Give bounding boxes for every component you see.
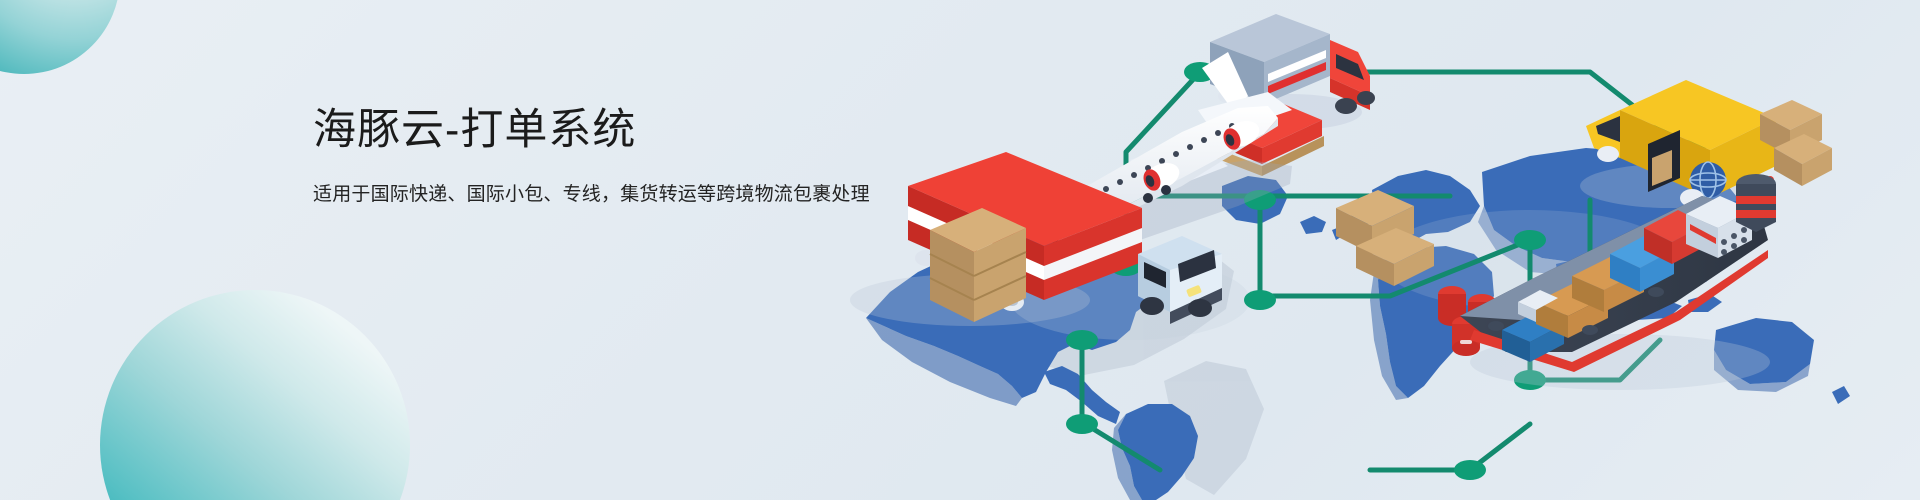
network-node	[1066, 414, 1098, 434]
landmass-iceland	[1300, 216, 1326, 234]
network-node	[1244, 290, 1276, 310]
isometric-logistics-illustration	[830, 0, 1920, 500]
airplane-wheel	[1143, 193, 1153, 203]
ship-funnel	[1736, 174, 1776, 232]
hero-banner: 海豚云-打单系统 适用于国际快递、国际小包、专线，集货转运等跨境物流包裹处理	[0, 0, 1920, 500]
network-path-lower	[1370, 424, 1530, 470]
delivery-van	[1580, 80, 1832, 208]
landmass-new-zealand	[1832, 386, 1850, 404]
network-node	[1514, 230, 1546, 250]
airplane-wheel	[1161, 185, 1171, 195]
decorative-circle-bottom-left	[100, 290, 410, 500]
decorative-circle-top-left	[0, 0, 120, 74]
network-node	[1066, 330, 1098, 350]
network-node	[1454, 460, 1486, 480]
